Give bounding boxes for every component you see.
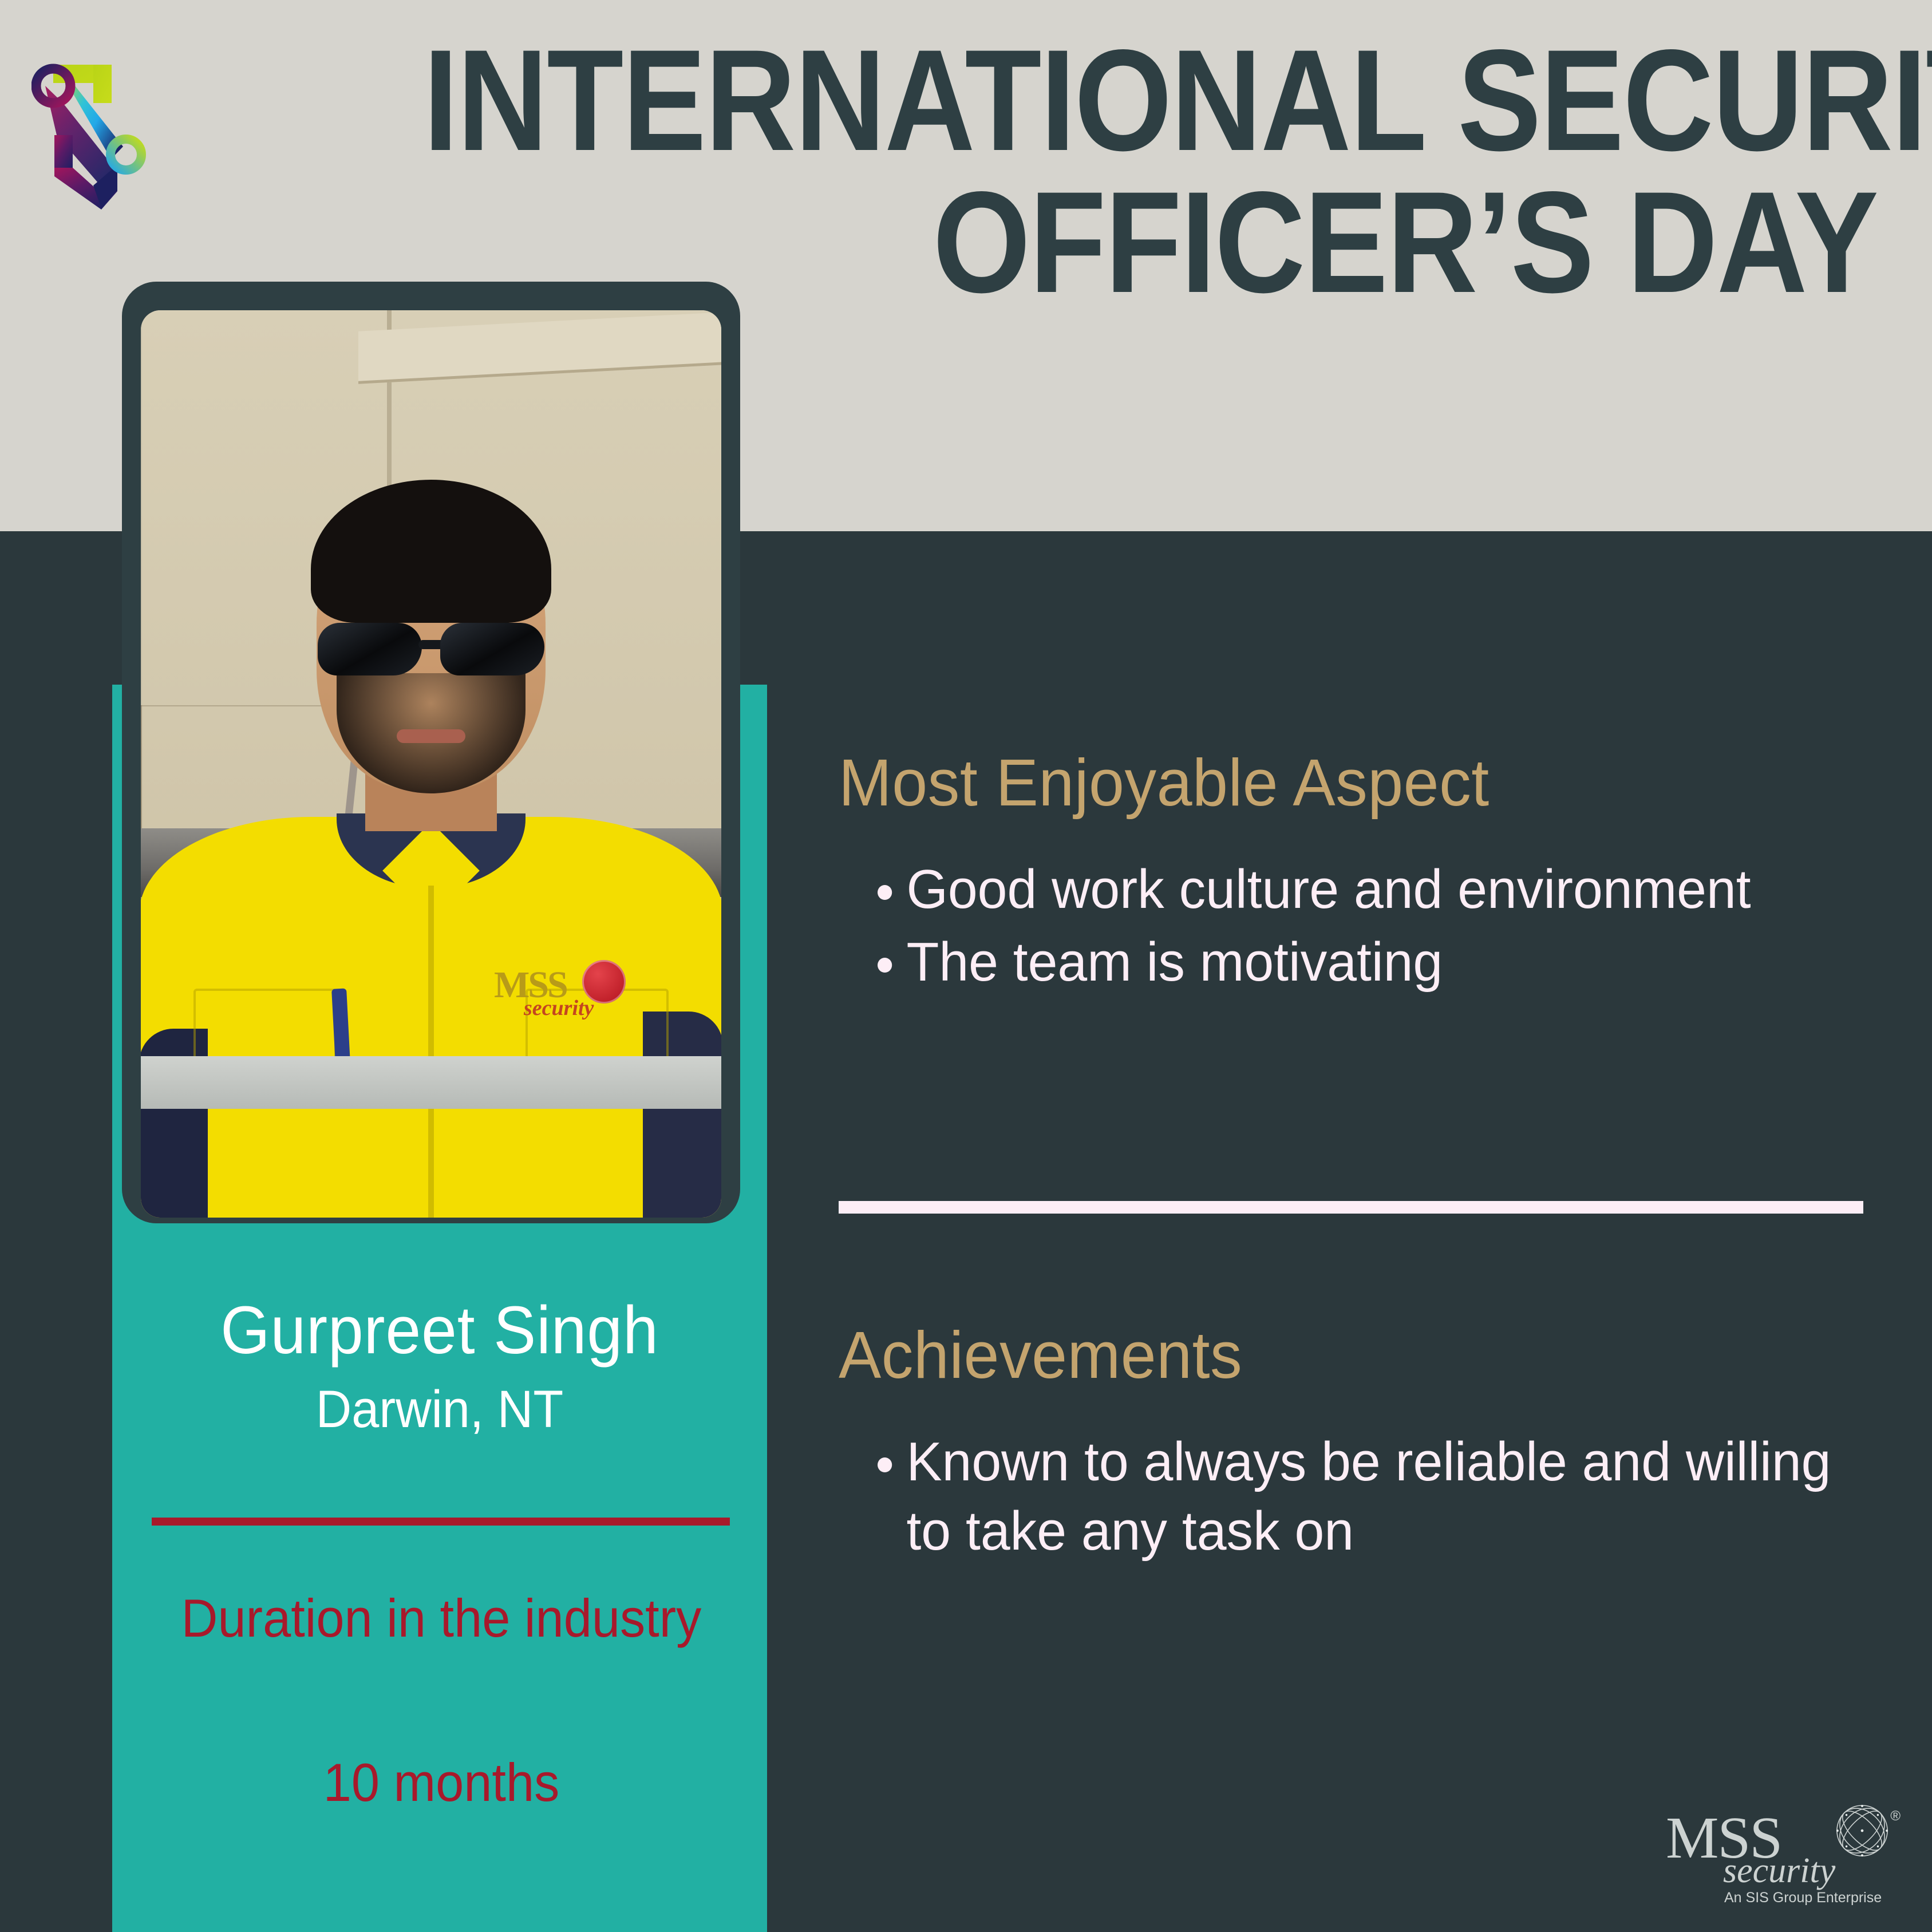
list-item: Known to always be reliable and willing … (878, 1428, 1839, 1566)
section-heading-enjoyable: Most Enjoyable Aspect (839, 744, 1828, 821)
sunglasses-icon (318, 623, 544, 678)
list-item: The team is motivating (878, 928, 1839, 997)
uniform-logo-subtext: security (524, 995, 594, 1021)
photo-lips (397, 729, 465, 743)
section-divider (839, 1201, 1863, 1214)
poster-canvas: INTERNATIONAL SECURITY OFFICER’S DAY (0, 0, 1932, 1932)
bullet-list-achievements: Known to always be reliable and willing … (839, 1428, 1869, 1566)
photo-head (317, 492, 546, 790)
footer-tagline: An SIS Group Enterprise (1724, 1890, 1882, 1906)
registered-mark: ® (1890, 1808, 1901, 1824)
duration-value: 10 months (153, 1752, 729, 1814)
section-heading-achievements: Achievements (839, 1317, 1828, 1393)
profile-name: Gurpreet Singh (132, 1291, 747, 1369)
list-item: Good work culture and environment (878, 855, 1839, 924)
portrait-card: MSS security (122, 282, 740, 1223)
portrait-photo: MSS security (141, 310, 721, 1218)
bullet-list-enjoyable: Good work culture and environment The te… (839, 855, 1869, 997)
uniform-globe-icon (582, 960, 626, 1003)
section-achievements: Achievements Known to always be reliable… (839, 1317, 1869, 1570)
mss-security-logo: MSS security An SIS Group Enterprise ® (1660, 1800, 1901, 1909)
photo-uniform-logo: MSS security (494, 960, 626, 1020)
profile-divider (152, 1518, 730, 1526)
photo-lens-left (318, 623, 422, 675)
title-line-1: INTERNATIONAL SECURITY (424, 34, 1878, 167)
photo-shirt-placket (428, 886, 434, 1218)
page-title: INTERNATIONAL SECURITY OFFICER’S DAY (206, 34, 1901, 309)
photo-hivis-band (141, 1056, 721, 1109)
photo-hivis-shirt: MSS security (141, 817, 721, 1218)
profile-location: Darwin, NT (132, 1380, 747, 1440)
section-most-enjoyable-aspect: Most Enjoyable Aspect Good work culture … (839, 744, 1869, 1001)
globe-icon (1834, 1803, 1890, 1859)
duration-label: Duration in the industry (153, 1586, 729, 1652)
footer-brand-sub: security (1723, 1853, 1835, 1888)
photo-lens-right (440, 623, 544, 675)
sis-group-s-logo-icon (31, 50, 203, 239)
